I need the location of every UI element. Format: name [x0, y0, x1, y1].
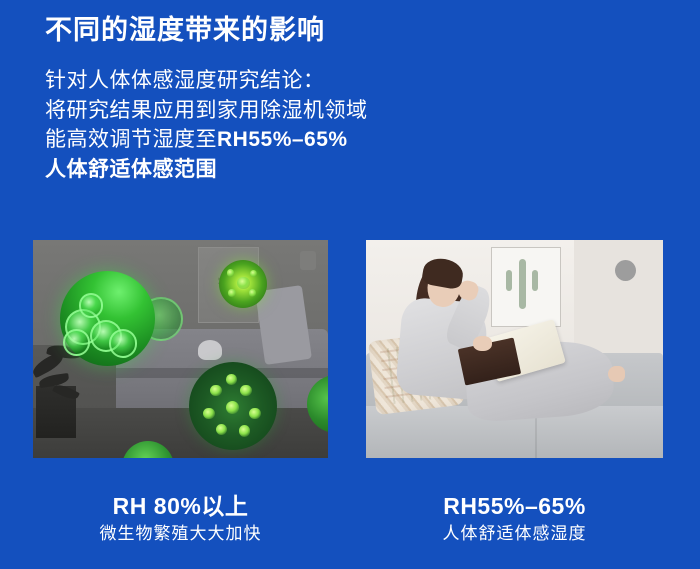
bright-living-room-illustration: [366, 240, 663, 458]
woman-reading: [390, 253, 628, 440]
body-line-4: 人体舒适体感范围: [45, 155, 665, 185]
virus-node: [249, 408, 260, 419]
virus-node: [210, 385, 221, 396]
panel-high-humidity-image: [33, 240, 328, 458]
virus-node: [226, 374, 237, 385]
headline-block: 不同的湿度带来的影响 针对人体体感湿度研究结论： 将研究结果应用到家用除湿机领域…: [45, 14, 665, 185]
virus-node: [249, 289, 257, 297]
caption-comfort-humidity: RH55%–65% 人体舒适体感湿度: [366, 492, 663, 547]
microbe-bleb: [109, 329, 138, 358]
virus-node: [250, 270, 257, 277]
body-line-1: 针对人体体感湿度研究结论：: [45, 66, 665, 96]
image-panels: [0, 240, 700, 458]
caption-high-humidity-sub: 微生物繁殖大大加快: [33, 521, 328, 547]
bird-ornament: [198, 340, 222, 360]
microbe-bleb: [79, 293, 104, 318]
body-line-3-range: RH55%–65%: [217, 128, 348, 151]
microbe-orb-virus-bottom: [189, 362, 277, 450]
page-title: 不同的湿度带来的影响: [45, 14, 665, 48]
hand-holding-book: [473, 336, 492, 351]
virus-node: [228, 289, 235, 296]
caption-comfort-humidity-sub: 人体舒适体感湿度: [366, 521, 663, 547]
wall-switch: [300, 251, 316, 270]
panel-captions: RH 80%以上 微生物繁殖大大加快 RH55%–65% 人体舒适体感湿度: [0, 492, 700, 562]
microbe-bleb: [63, 329, 90, 356]
microbe-orb-virus-top: [219, 260, 267, 308]
body-line-2: 将研究结果应用到家用除湿机领域: [45, 96, 665, 126]
panel-comfort-humidity-image: [366, 240, 663, 458]
caption-high-humidity-title: RH 80%以上: [33, 492, 328, 521]
dark-living-room-illustration: [33, 240, 328, 458]
body-text-list: 针对人体体感湿度研究结论： 将研究结果应用到家用除湿机领域 能高效调节湿度至RH…: [45, 66, 665, 185]
virus-node: [227, 269, 235, 277]
virus-node: [239, 425, 250, 436]
caption-comfort-humidity-title: RH55%–65%: [366, 492, 663, 521]
virus-node: [216, 424, 227, 435]
virus-node: [237, 277, 249, 289]
body-line-3-text: 能高效调节湿度至: [45, 128, 217, 151]
caption-high-humidity: RH 80%以上 微生物繁殖大大加快: [33, 492, 328, 547]
virus-node: [203, 408, 214, 419]
floor: [33, 408, 328, 458]
foot: [608, 366, 625, 383]
body-line-3: 能高效调节湿度至RH55%–65%: [45, 125, 665, 155]
virus-node: [226, 401, 239, 414]
humidity-comparison-poster: 不同的湿度带来的影响 针对人体体感湿度研究结论： 将研究结果应用到家用除湿机领域…: [0, 0, 700, 569]
microbe-orb-large: [60, 271, 155, 366]
virus-node: [240, 385, 251, 396]
